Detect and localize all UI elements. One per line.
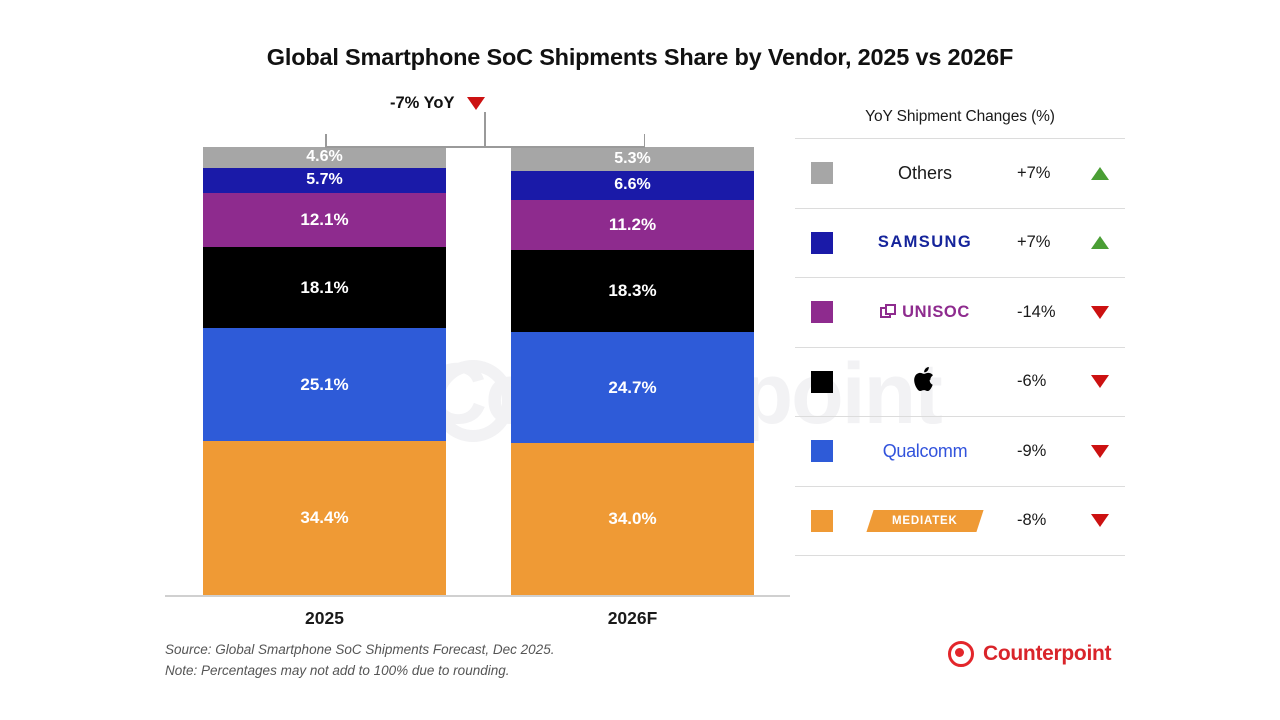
legend-brand-qualcomm: Qualcomm [833,417,1017,486]
bracket-right-tick [644,134,646,147]
bar-segment-label: 34.0% [608,509,656,529]
chart-title: Global Smartphone SoC Shipments Share by… [0,44,1280,71]
bar-segment-label: 34.4% [300,508,348,528]
legend-row-samsung[interactable]: SAMSUNG+7% [795,209,1125,279]
yoy-bracket [325,125,645,147]
qualcomm-logo: Qualcomm [883,441,968,462]
counterpoint-mark-icon [948,641,974,667]
legend-rows: Others+7%SAMSUNG+7%UNISOC-14%-6%Qualcomm… [795,138,1125,556]
triangle-down-icon [1091,445,1109,458]
legend-brand-apple [833,348,1017,417]
bar-segment-qualcomm[interactable]: 24.7% [511,332,754,443]
legend-change-value: -6% [1017,372,1075,391]
x-axis-line [165,595,790,597]
x-tick-label-2026: 2026F [511,608,754,629]
legend-change-value: +7% [1017,233,1075,252]
bar-segment-label: 18.1% [300,278,348,298]
bar-segment-unisoc[interactable]: 12.1% [203,193,446,247]
legend-brand-unisoc: UNISOC [833,278,1017,347]
counterpoint-logo: Counterpoint [948,641,1111,667]
legend-change-value: -14% [1017,303,1075,322]
legend-direction-cell [1075,306,1125,319]
legend-direction-cell [1075,236,1125,249]
legend-swatch-icon [811,440,833,462]
legend-change-value: -9% [1017,442,1075,461]
note-text: Note: Percentages may not add to 100% du… [165,661,554,682]
legend-brand-mediatek: MEDIATEK [833,487,1017,556]
unisoc-logo: UNISOC [880,303,970,322]
stacked-bar-2026[interactable]: 5.3%6.6%11.2%18.3%24.7%34.0% [511,147,754,595]
triangle-up-icon [1091,167,1109,180]
legend-direction-cell [1075,445,1125,458]
triangle-up-icon [1091,236,1109,249]
bracket-stem [484,112,486,147]
mediatek-logo: MEDIATEK [867,510,984,532]
counterpoint-wordmark: Counterpoint [983,642,1111,666]
bracket-line [325,146,645,148]
legend-change-value: -8% [1017,511,1075,530]
bar-segment-others[interactable]: 5.3% [511,147,754,171]
bar-segment-label: 18.3% [608,281,656,301]
legend-title: YoY Shipment Changes (%) [795,108,1125,138]
bar-segment-samsung[interactable]: 6.6% [511,171,754,201]
stacked-bar-2025[interactable]: 4.6%5.7%12.1%18.1%25.1%34.4% [203,147,446,595]
legend-brand-samsung: SAMSUNG [833,209,1017,278]
bar-segment-others[interactable]: 4.6% [203,147,446,168]
total-yoy-callout: -7% YoY [390,94,485,113]
samsung-logo: SAMSUNG [878,233,972,252]
legend-swatch-icon [811,232,833,254]
legend-change-value: +7% [1017,164,1075,183]
total-yoy-label: -7% YoY [390,94,455,113]
bar-segment-apple[interactable]: 18.1% [203,247,446,328]
bar-segment-qualcomm[interactable]: 25.1% [203,328,446,440]
bar-segment-mediatek[interactable]: 34.4% [203,441,446,595]
footnote: Source: Global Smartphone SoC Shipments … [165,640,554,682]
bar-segment-mediatek[interactable]: 34.0% [511,443,754,595]
legend-direction-cell [1075,514,1125,527]
legend-row-apple[interactable]: -6% [795,348,1125,418]
legend-swatch-icon [811,162,833,184]
bar-segment-label: 4.6% [306,148,342,166]
x-tick-label-2025: 2025 [203,608,446,629]
legend-swatch-icon [811,371,833,393]
legend-swatch-icon [811,301,833,323]
bar-segment-label: 12.1% [300,210,348,230]
triangle-down-icon [1091,375,1109,388]
legend-brand-label: UNISOC [902,303,970,322]
legend-row-unisoc[interactable]: UNISOC-14% [795,278,1125,348]
bracket-left-tick [325,134,327,147]
legend-brand-label: Others [898,163,952,184]
triangle-down-icon [1091,306,1109,319]
bar-segment-label: 6.6% [614,176,650,194]
bar-segment-label: 11.2% [609,215,656,235]
legend-direction-cell [1075,167,1125,180]
legend-panel: YoY Shipment Changes (%) Others+7%SAMSUN… [795,108,1125,556]
unisoc-mark-icon [880,304,897,321]
legend-row-others[interactable]: Others+7% [795,139,1125,209]
bar-segment-label: 5.3% [614,150,650,168]
legend-brand-others: Others [833,139,1017,208]
bar-segment-label: 24.7% [608,378,656,398]
legend-swatch-icon [811,510,833,532]
apple-logo-icon [913,364,938,399]
bar-segment-label: 25.1% [300,375,348,395]
triangle-down-icon [467,97,485,110]
bar-segment-apple[interactable]: 18.3% [511,250,754,332]
bar-segment-unisoc[interactable]: 11.2% [511,200,754,250]
legend-row-mediatek[interactable]: MEDIATEK-8% [795,487,1125,557]
triangle-down-icon [1091,514,1109,527]
legend-direction-cell [1075,375,1125,388]
source-text: Source: Global Smartphone SoC Shipments … [165,640,554,661]
bar-segment-label: 5.7% [306,171,342,189]
legend-row-qualcomm[interactable]: Qualcomm-9% [795,417,1125,487]
chart-canvas: Counterpoint Global Smartphone SoC Shipm… [0,0,1280,720]
legend-brand-label: MEDIATEK [892,515,958,527]
bar-segment-samsung[interactable]: 5.7% [203,168,446,194]
